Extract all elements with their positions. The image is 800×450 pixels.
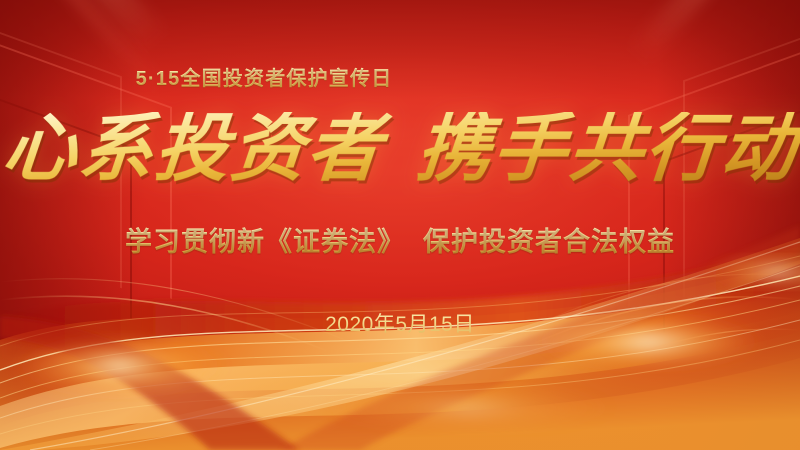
poster-content: 5·15全国投资者保护宣传日 心系投资者携手共行动 学习贯彻新《证券法》保护投资… xyxy=(0,0,800,450)
subtitle-part-two: 保护投资者合法权益 xyxy=(423,227,675,257)
poster-canvas: 5·15全国投资者保护宣传日 心系投资者携手共行动 学习贯彻新《证券法》保护投资… xyxy=(0,0,800,450)
event-date-text: 2020年5月15日 xyxy=(0,308,800,338)
campaign-eyebrow-text: 5·15全国投资者保护宣传日 xyxy=(0,62,800,91)
subtitle-part-one: 学习贯彻新《证券法》 xyxy=(125,227,405,257)
headline-part-one: 心系投资者 xyxy=(0,106,387,192)
subtitle-line: 学习贯彻新《证券法》保护投资者合法权益 xyxy=(0,220,800,259)
headline-part-two: 携手共行动 xyxy=(413,106,800,192)
main-headline: 心系投资者携手共行动 xyxy=(0,112,800,186)
